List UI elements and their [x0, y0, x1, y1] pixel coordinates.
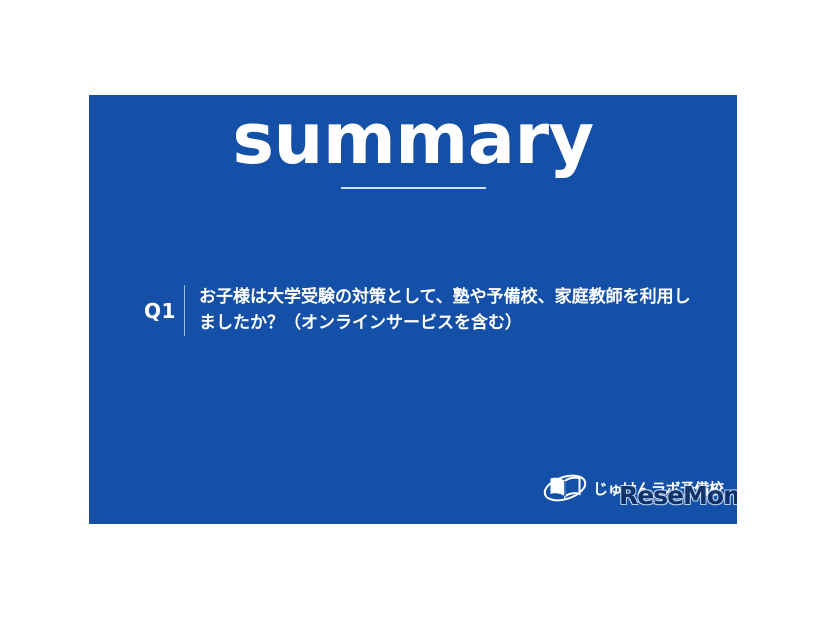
slide-title-block: summary [89, 103, 737, 189]
question-number-label: Q1 [136, 299, 184, 323]
open-book-orbit-icon [541, 472, 589, 504]
resemom-watermark: ReseMom. [619, 481, 737, 510]
question-block: Q1 お子様は大学受験の対策として、塾や予備校、家庭教師を利用しましたか？（オン… [136, 285, 706, 336]
question-divider [184, 285, 185, 336]
title-underline-rule [341, 187, 486, 189]
question-text: お子様は大学受験の対策として、塾や予備校、家庭教師を利用しましたか？（オンライン… [199, 285, 706, 336]
page-title: summary [89, 103, 737, 177]
presentation-slide: summary Q1 お子様は大学受験の対策として、塾や予備校、家庭教師を利用し… [89, 95, 737, 524]
